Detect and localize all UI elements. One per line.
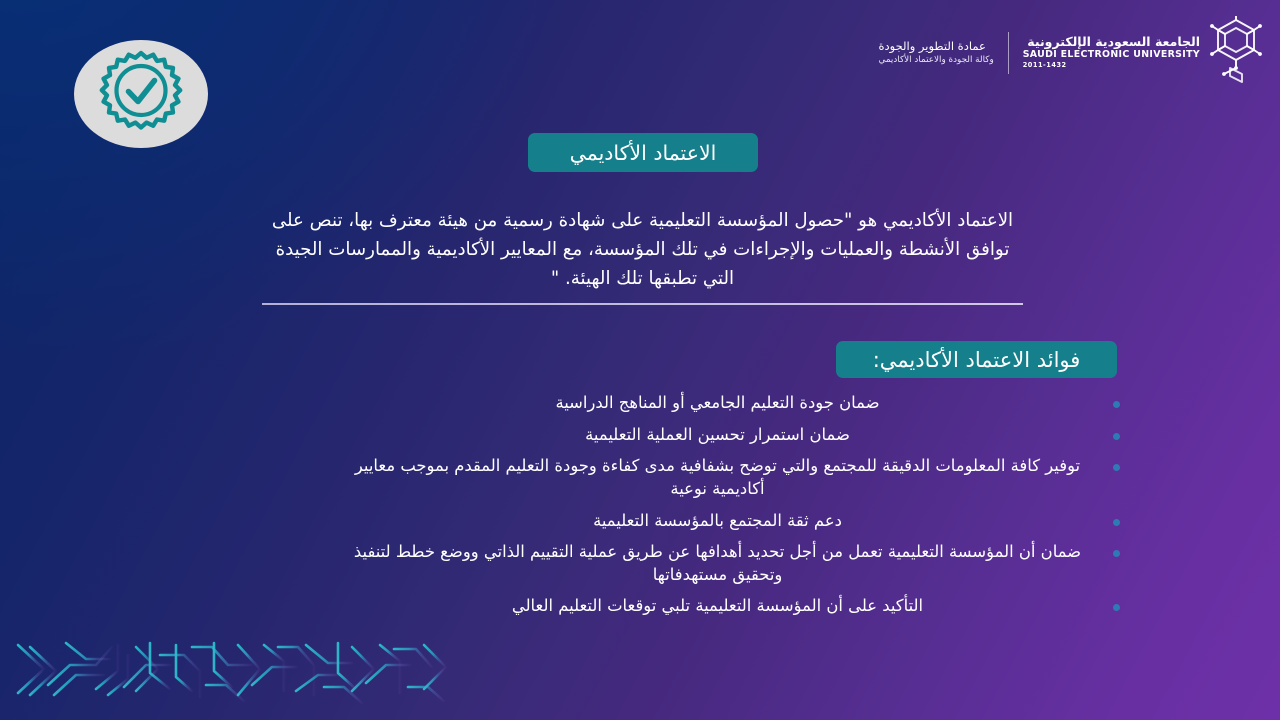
verified-seal-icon: [73, 39, 209, 149]
bullet-dot-icon: [1113, 401, 1120, 408]
definition-paragraph: الاعتماد الأكاديمي هو "حصول المؤسسة التع…: [262, 206, 1023, 293]
section-divider: [262, 303, 1023, 305]
list-item-label: التأكيد على أن المؤسسة التعليمية تلبي تو…: [330, 595, 1099, 618]
bullet-dot-icon: [1113, 464, 1120, 471]
bullet-dot-icon: [1113, 604, 1120, 611]
list-item-label: توفير كافة المعلومات الدقيقة للمجتمع وال…: [330, 455, 1099, 500]
university-name-english: SAUDI ELECTRONIC UNIVERSITY: [1023, 50, 1200, 61]
list-item-label: ضمان أن المؤسسة التعليمية تعمل من أجل تح…: [330, 541, 1099, 586]
university-logo-block: الجامعة السعودية الإلكترونية SAUDI ELECT…: [879, 16, 1262, 90]
circuit-pattern-decoration: [0, 625, 470, 720]
university-name-arabic: الجامعة السعودية الإلكترونية: [1027, 35, 1200, 49]
list-item-label: ضمان جودة التعليم الجامعي أو المناهج الد…: [330, 392, 1099, 415]
university-founding-year: 2011-1432: [1023, 62, 1067, 70]
list-item: دعم ثقة المجتمع بالمؤسسة التعليمية: [330, 510, 1120, 533]
deanship-title: عمادة التطوير والجودة: [879, 39, 986, 55]
list-item-label: دعم ثقة المجتمع بالمؤسسة التعليمية: [330, 510, 1099, 533]
presentation-slide: الجامعة السعودية الإلكترونية SAUDI ELECT…: [0, 0, 1280, 720]
list-item: ضمان أن المؤسسة التعليمية تعمل من أجل تح…: [330, 541, 1120, 586]
deanship-name-group: عمادة التطوير والجودة وكالة الجودة والاع…: [879, 39, 994, 66]
bullet-dot-icon: [1113, 519, 1120, 526]
logo-vertical-divider: [1008, 32, 1009, 74]
list-item: ضمان استمرار تحسين العملية التعليمية: [330, 424, 1120, 447]
benefits-list: ضمان جودة التعليم الجامعي أو المناهج الد…: [330, 392, 1120, 627]
bullet-dot-icon: [1113, 550, 1120, 557]
list-item-label: ضمان استمرار تحسين العملية التعليمية: [330, 424, 1099, 447]
benefits-heading-badge: فوائد الاعتماد الأكاديمي:: [836, 341, 1117, 378]
list-item: ضمان جودة التعليم الجامعي أو المناهج الد…: [330, 392, 1120, 415]
university-name-group: الجامعة السعودية الإلكترونية SAUDI ELECT…: [1023, 35, 1200, 72]
slide-title-badge: الاعتماد الأكاديمي: [528, 133, 758, 172]
list-item: التأكيد على أن المؤسسة التعليمية تلبي تو…: [330, 595, 1120, 618]
seu-hexagon-circuit-icon: [1210, 16, 1262, 90]
deanship-subtitle: وكالة الجودة والاعتماد الأكاديمي: [879, 55, 994, 67]
list-item: توفير كافة المعلومات الدقيقة للمجتمع وال…: [330, 455, 1120, 500]
bullet-dot-icon: [1113, 433, 1120, 440]
